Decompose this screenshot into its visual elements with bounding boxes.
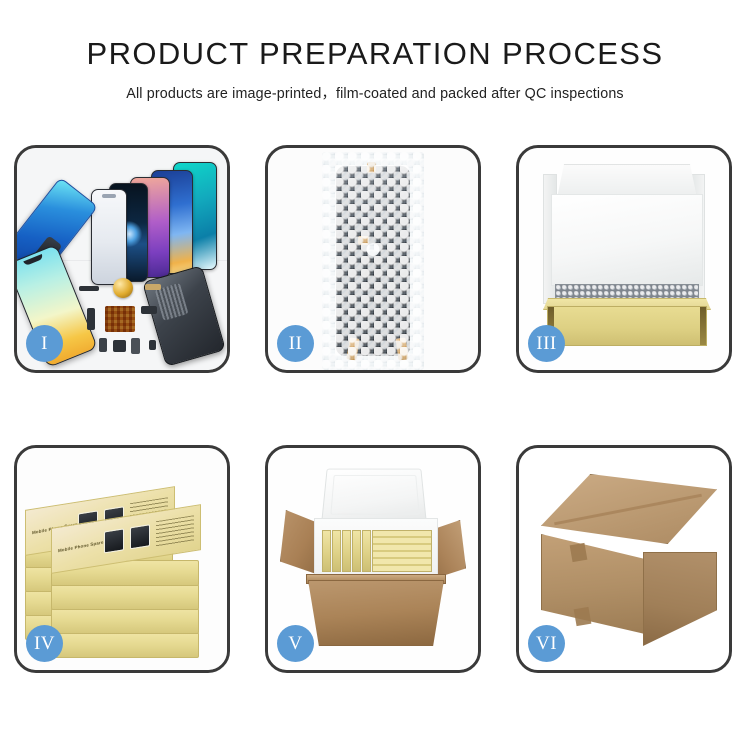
header: PRODUCT PREPARATION PROCESS All products… bbox=[0, 0, 750, 103]
foam-sheet bbox=[551, 194, 703, 286]
step-badge: III bbox=[528, 325, 565, 362]
small-part bbox=[87, 308, 95, 330]
connector-chip-grid bbox=[105, 306, 135, 332]
stacked-box bbox=[51, 608, 199, 634]
foam-lid bbox=[557, 164, 697, 198]
foam-lid-open bbox=[321, 469, 427, 525]
phone-screen-glass bbox=[91, 189, 127, 285]
process-step-6: VI bbox=[516, 445, 732, 673]
yellow-box-tray bbox=[547, 306, 707, 346]
product-preparation-process-graphic: PRODUCT PREPARATION PROCESS All products… bbox=[0, 0, 750, 750]
carton-front-face bbox=[541, 534, 645, 634]
inner-box bbox=[322, 530, 331, 572]
small-part bbox=[113, 340, 126, 352]
process-step-5: V bbox=[265, 445, 481, 673]
carton-body bbox=[308, 580, 444, 646]
small-part bbox=[149, 340, 156, 350]
inner-box bbox=[352, 530, 361, 572]
inner-box bbox=[342, 530, 351, 572]
process-step-3: III bbox=[516, 145, 732, 373]
tape-piece bbox=[358, 236, 369, 245]
stacked-box bbox=[51, 632, 199, 658]
small-part bbox=[99, 338, 107, 352]
box-print-text-block bbox=[156, 515, 194, 547]
step-badge: V bbox=[277, 625, 314, 662]
inner-box bbox=[362, 530, 371, 572]
step-badge: IV bbox=[26, 625, 63, 662]
carton-tape-tab bbox=[574, 607, 592, 626]
page-subtitle: All products are image-printed，film-coat… bbox=[0, 71, 750, 103]
box-print-screen-image bbox=[130, 525, 150, 550]
camera-module bbox=[113, 278, 133, 298]
phone-back-housing bbox=[142, 265, 226, 367]
carton-tape-tab bbox=[570, 543, 588, 562]
step-badge: II bbox=[277, 325, 314, 362]
small-part bbox=[131, 338, 140, 354]
step-badge: VI bbox=[528, 625, 565, 662]
small-part bbox=[145, 284, 161, 290]
process-step-grid: I II bbox=[14, 145, 745, 673]
step-badge: I bbox=[26, 325, 63, 362]
small-part bbox=[79, 286, 99, 291]
box-print-screen-image bbox=[104, 529, 124, 554]
inner-box bbox=[332, 530, 341, 572]
carton-side-face bbox=[643, 552, 717, 646]
process-step-2: II bbox=[265, 145, 481, 373]
stacked-box bbox=[51, 584, 199, 610]
inner-box-stack bbox=[372, 530, 432, 572]
page-title: PRODUCT PREPARATION PROCESS bbox=[0, 0, 750, 71]
process-step-1: I bbox=[14, 145, 230, 373]
tape-piece bbox=[367, 162, 376, 173]
process-step-4: Mobile Phone Spare Parts Mobile Phone Sp… bbox=[14, 445, 230, 673]
small-part bbox=[141, 306, 157, 314]
